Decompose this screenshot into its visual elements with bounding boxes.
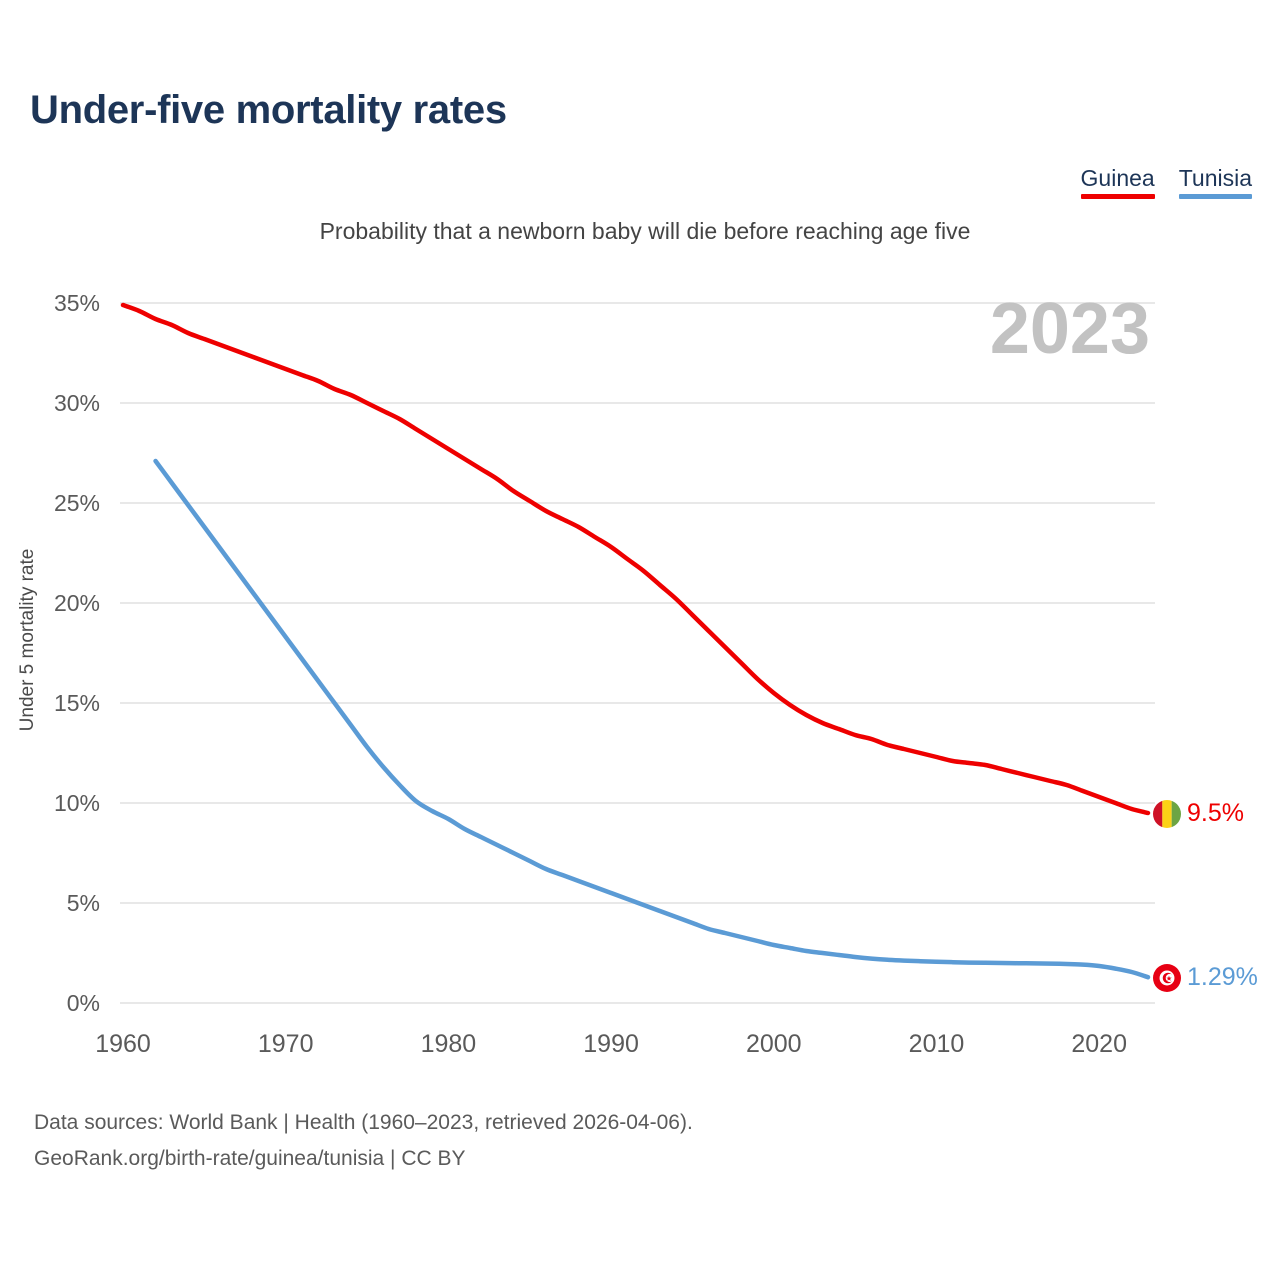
legend-label-tunisia: Tunisia <box>1179 165 1252 191</box>
y-axis-tick: 30% <box>0 390 100 417</box>
guinea-flag-icon <box>1153 800 1181 828</box>
legend-rule-guinea <box>1081 194 1155 199</box>
series-line-tunisia <box>156 461 1148 977</box>
tunisia-flag-icon <box>1153 964 1181 992</box>
x-axis-tick: 2000 <box>714 1030 834 1059</box>
footer: Data sources: World Bank | Health (1960–… <box>34 1105 693 1177</box>
end-value-guinea: 9.5% <box>1187 799 1244 828</box>
legend-item-tunisia[interactable]: Tunisia <box>1179 165 1252 199</box>
x-axis-tick: 2010 <box>876 1030 996 1059</box>
footer-line-1: Data sources: World Bank | Health (1960–… <box>34 1105 693 1141</box>
end-label-tunisia: 1.29% <box>1153 963 1258 992</box>
x-axis-tick: 1990 <box>551 1030 671 1059</box>
chart-legend: Guinea Tunisia <box>1081 165 1252 199</box>
legend-label-guinea: Guinea <box>1081 165 1155 191</box>
series-line-guinea <box>123 305 1148 813</box>
y-axis-tick: 15% <box>0 690 100 717</box>
chart-subtitle: Probability that a newborn baby will die… <box>0 218 1280 245</box>
y-axis-tick: 35% <box>0 290 100 317</box>
page-title: Under-five mortality rates <box>30 88 507 133</box>
year-watermark: 2023 <box>990 288 1150 370</box>
end-label-guinea: 9.5% <box>1153 799 1244 828</box>
legend-rule-tunisia <box>1179 194 1252 199</box>
x-axis-tick: 2020 <box>1039 1030 1159 1059</box>
end-value-tunisia: 1.29% <box>1187 963 1258 992</box>
y-axis-tick: 5% <box>0 890 100 917</box>
y-axis-tick: 10% <box>0 790 100 817</box>
x-axis-tick: 1980 <box>388 1030 508 1059</box>
x-axis-tick: 1970 <box>226 1030 346 1059</box>
x-axis-tick: 1960 <box>63 1030 183 1059</box>
y-axis-tick: 25% <box>0 490 100 517</box>
y-axis-tick: 20% <box>0 590 100 617</box>
series-lines <box>123 305 1148 977</box>
footer-line-2: GeoRank.org/birth-rate/guinea/tunisia | … <box>34 1141 693 1177</box>
y-axis-tick: 0% <box>0 990 100 1017</box>
legend-item-guinea[interactable]: Guinea <box>1081 165 1155 199</box>
gridlines <box>120 303 1155 1003</box>
